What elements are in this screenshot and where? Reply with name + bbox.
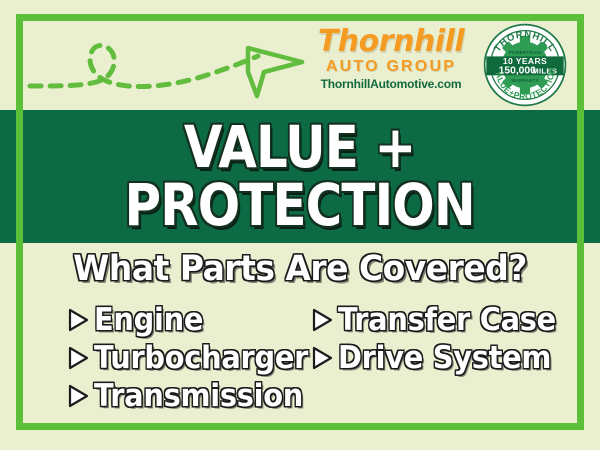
triangle-right-outline-icon [310, 307, 334, 333]
list-item-label: Drive System [338, 343, 551, 374]
badge-powertrain-text: POWERTRAIN [509, 50, 542, 55]
banner-title: VALUE + PROTECTION [0, 110, 600, 243]
list-item[interactable]: Transmission [66, 377, 324, 415]
list-item[interactable]: Drive System [310, 339, 572, 377]
triangle-right-outline-icon [310, 345, 334, 371]
list-item-label: Transfer Case [338, 305, 556, 336]
list-item-label: Turbocharger [94, 343, 308, 374]
list-item-label: Transmission [94, 381, 303, 412]
logo-website-text: ThornhillAutomotive.com [310, 76, 472, 92]
ad-header: Thornhill AUTO GROUP ThornhillAutomotive… [0, 0, 600, 110]
logo-subtitle-text: AUTO GROUP [310, 58, 472, 76]
coverage-section: What Parts Are Covered? Engine Turbochar… [0, 243, 600, 428]
coverage-column-left: Engine Turbocharger Transmission [66, 301, 324, 415]
list-item[interactable]: Transfer Case [310, 301, 572, 339]
coverage-heading: What Parts Are Covered? [18, 249, 582, 289]
triangle-right-outline-icon [66, 345, 90, 371]
thornhill-logo[interactable]: Thornhill AUTO GROUP ThornhillAutomotive… [310, 26, 472, 102]
banner-title-line-1: VALUE + [184, 120, 416, 175]
list-item[interactable]: Turbocharger [66, 339, 324, 377]
triangle-right-outline-icon [66, 383, 90, 409]
badge-years-text: 10 YEARS [503, 56, 547, 66]
banner-title-line-2: PROTECTION [125, 178, 475, 233]
triangle-right-outline-icon [66, 307, 90, 333]
coverage-column-right: Transfer Case Drive System [310, 301, 572, 377]
warranty-badge-icon: THORNHILL POWERTRAIN 10 YEARS 150,000 MI… [482, 22, 568, 108]
list-item-label: Engine [94, 305, 203, 336]
list-item[interactable]: Engine [66, 301, 324, 339]
dashed-loop-arrow-icon [26, 24, 316, 106]
logo-brand-text: Thornhill [310, 26, 472, 58]
value-protection-ad: Thornhill AUTO GROUP ThornhillAutomotive… [0, 0, 600, 450]
badge-warranty-text: WARRANTY [511, 78, 539, 83]
